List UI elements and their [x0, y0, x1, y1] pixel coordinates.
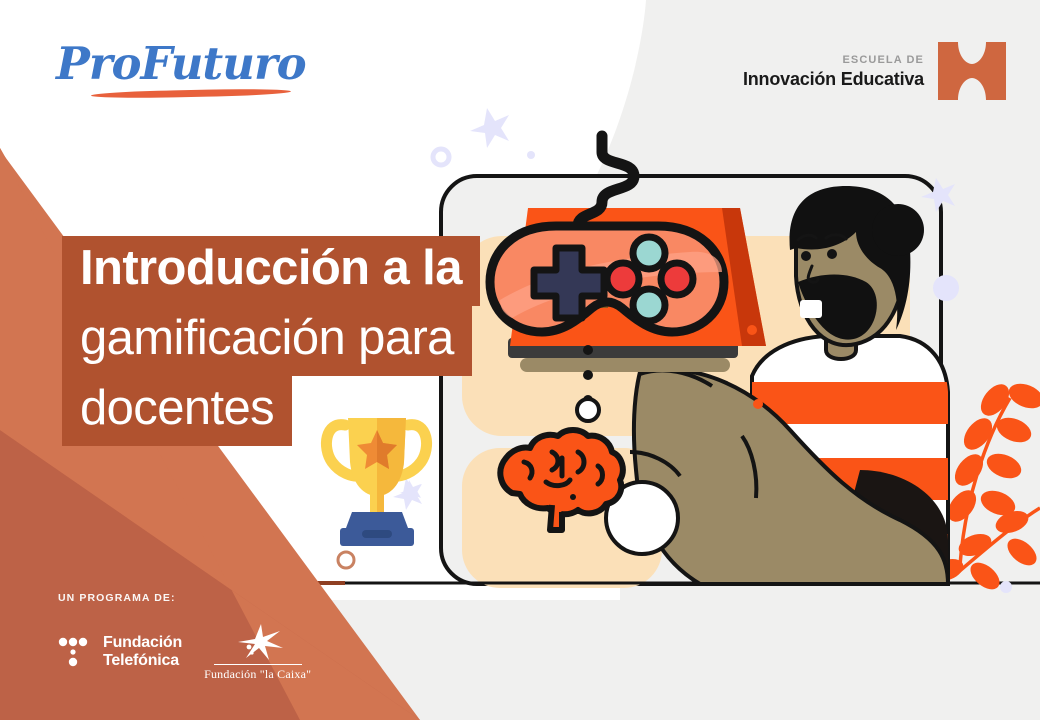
credits-kicker: UN PROGRAMA DE: [58, 592, 311, 604]
telefonica-dots-icon [58, 635, 92, 669]
title-line-1: Introducción a la [62, 236, 480, 306]
fundacion-telefonica-line2: Telefónica [103, 652, 182, 670]
partner-logos-row: Fundación Telefónica Fundación "la Caixa… [58, 622, 311, 682]
slide-canvas: ProFuturo ESCUELA DE Innovación Educativ… [0, 0, 1040, 720]
fundacion-la-caixa-logo[interactable]: Fundación "la Caixa" [204, 622, 311, 682]
la-caixa-star-icon [228, 622, 288, 662]
escuela-name: Innovación Educativa [743, 70, 924, 88]
escuela-innovacion-logo[interactable]: ESCUELA DE Innovación Educativa [743, 40, 1008, 102]
profuturo-logo[interactable]: ProFuturo [56, 38, 316, 104]
program-credits: UN PROGRAMA DE: Fundación Telefónica [58, 592, 311, 682]
title-line-2: gamificación para [62, 306, 472, 376]
fundacion-telefonica-name: Fundación Telefónica [103, 634, 182, 670]
fundacion-telefonica-logo[interactable]: Fundación Telefónica [58, 634, 182, 670]
la-caixa-rule [214, 664, 302, 665]
page-title: Introducción a la gamificación para doce… [62, 236, 480, 446]
fundacion-la-caixa-name: Fundación "la Caixa" [204, 667, 311, 682]
escuela-logo-text: ESCUELA DE Innovación Educativa [743, 55, 924, 88]
x-mark-icon [936, 40, 1008, 102]
title-line-3: docentes [62, 376, 292, 446]
escuela-kicker: ESCUELA DE [743, 55, 924, 66]
fundacion-telefonica-line1: Fundación [103, 634, 182, 652]
profuturo-wordmark: ProFuturo [56, 38, 316, 90]
